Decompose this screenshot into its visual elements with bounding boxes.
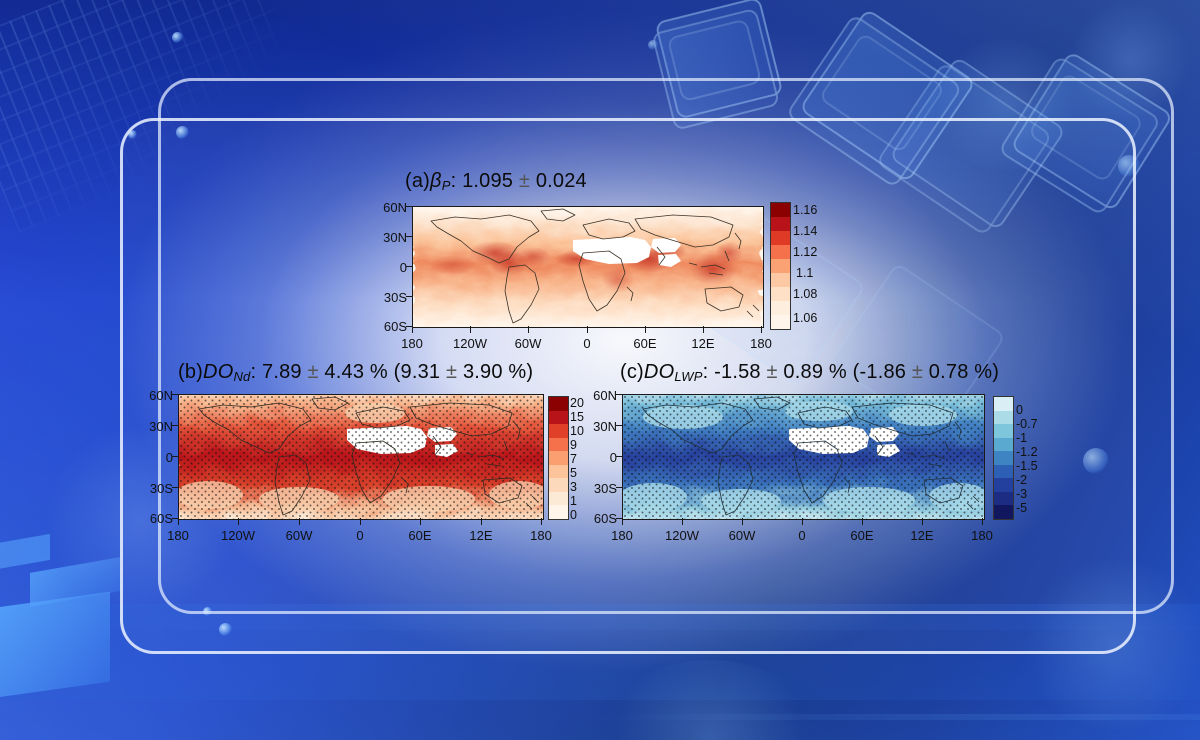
panel-a-title-error: 0.024 bbox=[530, 170, 587, 192]
panel-a-xtick-60E: 60E bbox=[625, 336, 665, 351]
panel-b-title-plusminus: ± bbox=[307, 361, 318, 383]
panel-b-title-sub: Nd bbox=[233, 369, 250, 384]
figure-container: (a)βP: 1.095 ± 0.024 bbox=[0, 0, 1200, 740]
panel-c-ytick-0: 0 bbox=[575, 450, 617, 465]
panel-a-xtick-180e: 180 bbox=[741, 336, 781, 351]
panel-b-xtick-60E: 60E bbox=[400, 528, 440, 543]
panel-b-title: (b)DONd: 7.89 ± 4.43 % (9.31 ± 3.90 %) bbox=[178, 361, 533, 384]
slide-canvas: (a)βP: 1.095 ± 0.024 bbox=[0, 0, 1200, 740]
panel-a-cblabel-108: 1.08 bbox=[793, 287, 817, 301]
panel-b-cblabel-5: 5 bbox=[570, 466, 577, 480]
panel-a-cblabel-112: 1.12 bbox=[793, 245, 817, 259]
panel-a-title-plusminus: ± bbox=[519, 170, 530, 192]
panel-a-xtick-60W: 60W bbox=[508, 336, 548, 351]
panel-b-map-svg bbox=[179, 395, 543, 519]
panel-c-ytick-30S: 30S bbox=[575, 481, 617, 496]
panel-a-xtick-180w: 180 bbox=[392, 336, 432, 351]
panel-c-colorbar bbox=[993, 396, 1014, 520]
panel-c-cblabel-1: -1 bbox=[1016, 431, 1027, 445]
panel-c-title-value: : -1.58 bbox=[703, 361, 767, 383]
panel-b-title-error-2: 3.90 %) bbox=[457, 361, 533, 383]
panel-c-cblabel-07: -0.7 bbox=[1016, 417, 1038, 431]
panel-b-title-symbol: DO bbox=[203, 361, 233, 383]
panel-c-map-svg bbox=[623, 395, 984, 519]
panel-b-xtick-120W: 120W bbox=[218, 528, 258, 543]
panel-c-xtick-180e: 180 bbox=[962, 528, 1002, 543]
panel-b-xtick-0: 0 bbox=[340, 528, 380, 543]
panel-c-ytick-60S: 60S bbox=[575, 511, 617, 526]
panel-b-ytick-60N: 60N bbox=[131, 388, 173, 403]
panel-b-xtick-120E: 12E bbox=[461, 528, 501, 543]
panel-c-map bbox=[622, 394, 985, 520]
panel-c-cblabel-5: -5 bbox=[1016, 501, 1027, 515]
panel-c-title: (c)DOLWP: -1.58 ± 0.89 % (-1.86 ± 0.78 %… bbox=[620, 361, 999, 384]
panel-c-xtick-180w: 180 bbox=[602, 528, 642, 543]
panel-a-title-prefix: (a) bbox=[405, 170, 430, 192]
panel-b-ytick-30S: 30S bbox=[131, 481, 173, 496]
panel-a-colorbar bbox=[770, 202, 791, 330]
panel-b-colorbar bbox=[548, 396, 569, 520]
panel-a-ytick-30N: 30N bbox=[365, 230, 407, 245]
panel-c-cblabel-2: -2 bbox=[1016, 473, 1027, 487]
panel-b-xtick-180w: 180 bbox=[158, 528, 198, 543]
panel-c-ytick-30N: 30N bbox=[575, 419, 617, 434]
panel-c-title-symbol: DO bbox=[644, 361, 674, 383]
panel-a-ytick-30S: 30S bbox=[365, 290, 407, 305]
panel-a-title: (a)βP: 1.095 ± 0.024 bbox=[405, 170, 587, 193]
panel-c-title-error: 0.89 % (-1.86 bbox=[778, 361, 912, 383]
panel-c-cblabel-12: -1.2 bbox=[1016, 445, 1038, 459]
panel-c-ytick-60N: 60N bbox=[575, 388, 617, 403]
panel-c-cblabel-3: -3 bbox=[1016, 487, 1027, 501]
panel-c-xtick-120W: 120W bbox=[662, 528, 702, 543]
panel-a-ytick-0: 0 bbox=[365, 260, 407, 275]
panel-c-xtick-0: 0 bbox=[782, 528, 822, 543]
panel-a-ytick-60N: 60N bbox=[365, 200, 407, 215]
panel-a-title-value: : 1.095 bbox=[451, 170, 519, 192]
panel-b-title-value: : 7.89 bbox=[250, 361, 307, 383]
panel-c-cblabel-0: 0 bbox=[1016, 403, 1023, 417]
panel-b-ytick-60S: 60S bbox=[131, 511, 173, 526]
panel-a-cblabel-114: 1.14 bbox=[793, 224, 817, 238]
panel-c-title-error-2: 0.78 %) bbox=[923, 361, 999, 383]
panel-b-map bbox=[178, 394, 544, 520]
panel-b-title-error: 4.43 % (9.31 bbox=[319, 361, 446, 383]
panel-a-title-symbol: β bbox=[430, 170, 442, 192]
panel-b-ytick-0: 0 bbox=[131, 450, 173, 465]
panel-b-title-plusminus-2: ± bbox=[446, 361, 457, 383]
panel-c-xtick-60W: 60W bbox=[722, 528, 762, 543]
panel-a-map-svg bbox=[413, 207, 763, 327]
panel-c-title-plusminus-2: ± bbox=[912, 361, 923, 383]
panel-c-xtick-60E: 60E bbox=[842, 528, 882, 543]
panel-c-xtick-120E: 12E bbox=[902, 528, 942, 543]
panel-b-xtick-60W: 60W bbox=[279, 528, 319, 543]
panel-a-cblabel-106: 1.06 bbox=[793, 311, 817, 325]
panel-b-cblabel-1: 1 bbox=[570, 494, 577, 508]
panel-a-title-sub: P bbox=[442, 178, 451, 193]
panel-b-ytick-30N: 30N bbox=[131, 419, 173, 434]
panel-a-map bbox=[412, 206, 764, 328]
panel-c-title-plusminus: ± bbox=[766, 361, 777, 383]
panel-c-title-prefix: (c) bbox=[620, 361, 644, 383]
panel-a-xtick-120E: 12E bbox=[683, 336, 723, 351]
panel-b-title-prefix: (b) bbox=[178, 361, 203, 383]
panel-b-xtick-180e: 180 bbox=[521, 528, 561, 543]
panel-c-title-sub: LWP bbox=[674, 369, 702, 384]
panel-a-xtick-120W: 120W bbox=[450, 336, 490, 351]
panel-a-ytick-60S: 60S bbox=[365, 319, 407, 334]
panel-c-cblabel-15: -1.5 bbox=[1016, 459, 1038, 473]
panel-a-cblabel-116: 1.16 bbox=[793, 203, 817, 217]
panel-a-xtick-0: 0 bbox=[567, 336, 607, 351]
panel-a-cblabel-11: 1.1 bbox=[796, 266, 813, 280]
